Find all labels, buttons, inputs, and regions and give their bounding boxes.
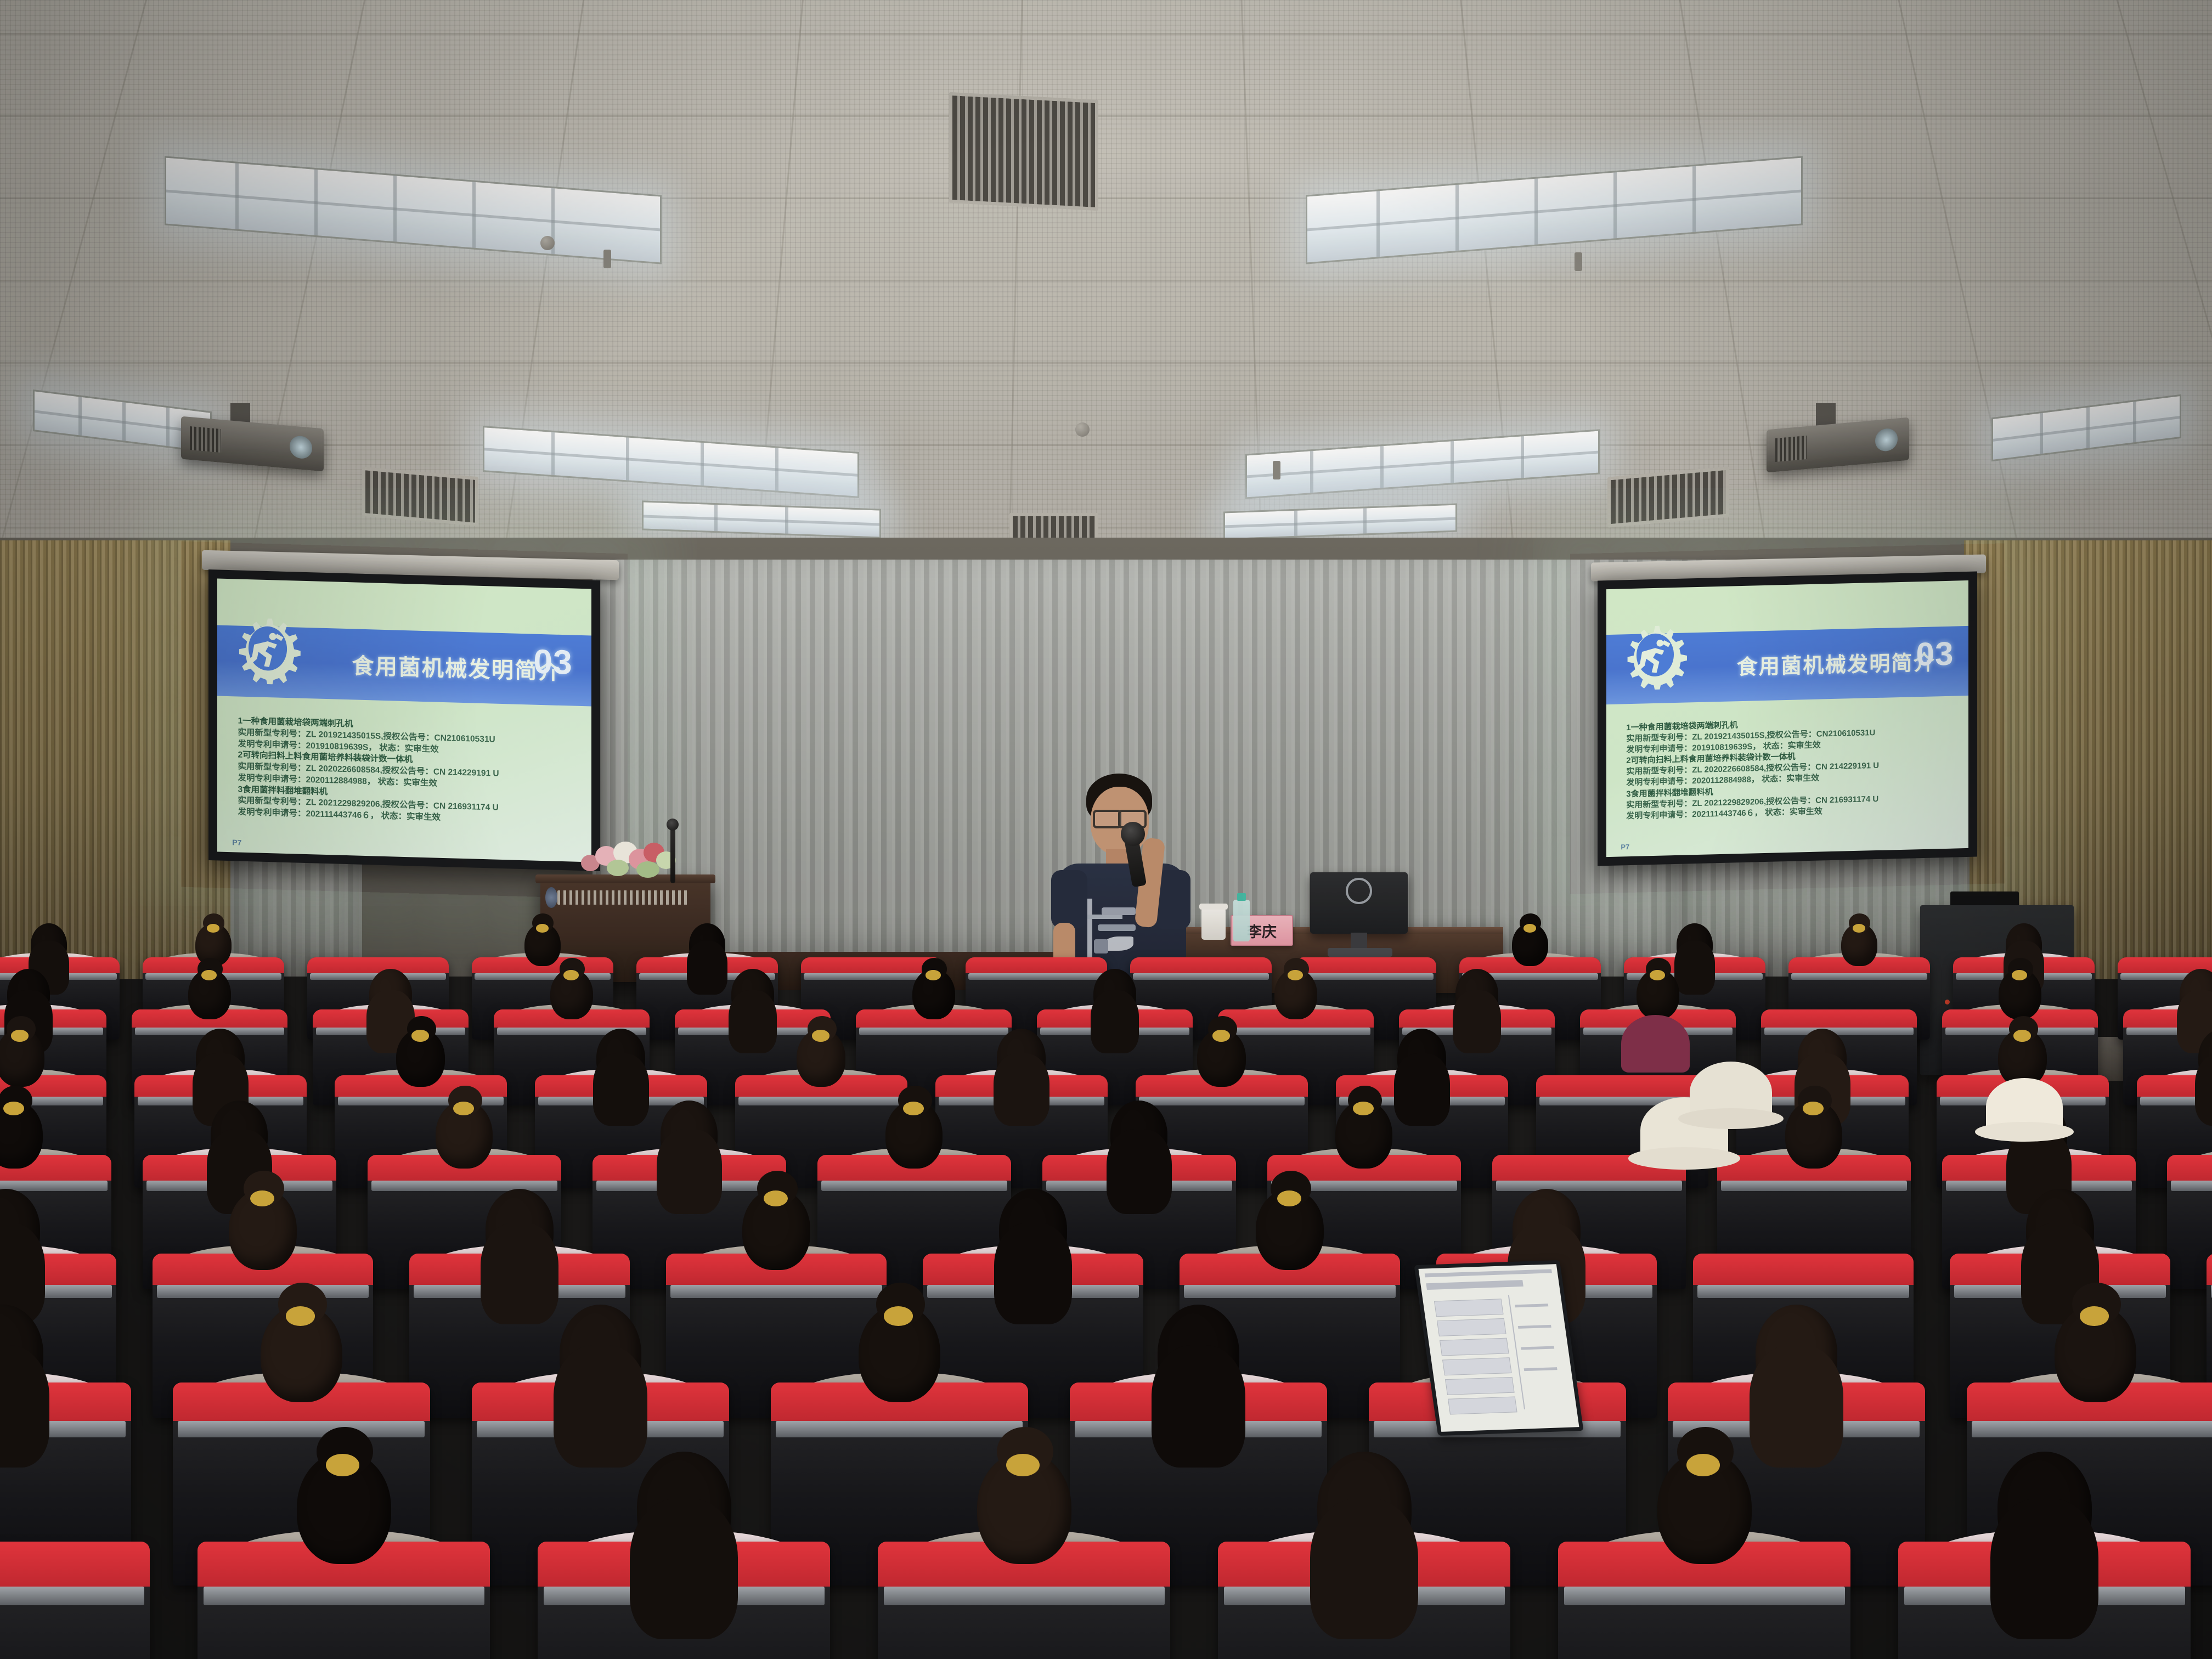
audience-member-hair-tie bbox=[286, 1306, 315, 1326]
sprinkler-head-2 bbox=[1575, 252, 1582, 271]
sprinkler-head-3 bbox=[1273, 461, 1280, 479]
audience-member-long-hair bbox=[994, 1223, 1072, 1324]
ceiling-grid-line bbox=[1898, 0, 2021, 554]
ceiling-grid-line bbox=[2117, 0, 2212, 554]
seat-chrome-trim bbox=[1564, 1587, 1845, 1605]
slide-title-left: 食用菌机械发明简介 bbox=[352, 648, 562, 686]
ceiling-grid-line bbox=[0, 362, 2212, 364]
audience-member-hair-tie bbox=[1353, 1102, 1373, 1115]
cap-brim bbox=[1975, 1122, 2073, 1142]
audience-member-long-hair bbox=[1990, 1499, 2098, 1639]
audience-member-hair-tie bbox=[411, 1030, 429, 1041]
seat-chrome-trim bbox=[1139, 1097, 1304, 1105]
cap-brim bbox=[1678, 1108, 1784, 1129]
seat-chrome-trim bbox=[178, 1421, 425, 1437]
audience-member-hair-tie bbox=[1277, 1190, 1301, 1207]
audience-member-hair-tie bbox=[207, 924, 219, 933]
ceiling-tile-lines bbox=[0, 0, 2212, 554]
seat-chrome-trim bbox=[0, 1587, 144, 1605]
slide-page-marker-left: P7 bbox=[232, 838, 241, 847]
audience-member-hair-tie bbox=[1853, 924, 1865, 933]
ceiling-grid-line bbox=[251, 0, 366, 554]
laptop-doc-block bbox=[1440, 1338, 1509, 1356]
audience-member-hair-tie bbox=[453, 1102, 473, 1115]
seat-chrome-trim bbox=[1791, 973, 1927, 980]
gear-runner-icon-left bbox=[232, 612, 303, 685]
seat-chrome-trim bbox=[157, 1285, 369, 1298]
laptop-sidebar-line bbox=[1524, 1367, 1558, 1371]
seat-chrome-trim bbox=[968, 973, 1104, 980]
gooseneck-mic-capsule bbox=[667, 819, 679, 831]
slide-page-marker-right: P7 bbox=[1621, 843, 1629, 851]
seat-headrest bbox=[307, 957, 449, 973]
slide-body-right: 1一种食用菌栽培袋两端刺孔机实用新型专利号：ZL 201921435015S,授… bbox=[1626, 714, 1957, 822]
seat-chrome-trim bbox=[1221, 1028, 1370, 1035]
laptop-screen bbox=[1419, 1264, 1579, 1432]
ceiling-panel-grid bbox=[0, 0, 2212, 554]
audience-member-hair-tie bbox=[326, 1454, 360, 1476]
slide-surface-left: 食用菌机械发明简介 03 1一种食用菌栽培袋两端刺孔机实用新型专利号：ZL 20… bbox=[217, 578, 591, 862]
seat-chrome-trim bbox=[859, 1028, 1008, 1035]
audience-member-long-hair bbox=[687, 941, 728, 995]
seat-headrest bbox=[1761, 1009, 1917, 1028]
seat-chrome-trim bbox=[1764, 1028, 1914, 1035]
audience-member-long-hair bbox=[729, 990, 777, 1053]
laptop-doc-block bbox=[1434, 1299, 1504, 1317]
audience-member-hair-tie bbox=[250, 1190, 274, 1207]
audience-member-hair-tie bbox=[884, 1306, 913, 1326]
ceiling-grid-line bbox=[0, 527, 2212, 528]
audience-member-long-hair bbox=[1152, 1345, 1245, 1468]
audience-member-long-hair bbox=[657, 1129, 722, 1214]
ceiling-grid-line bbox=[0, 0, 147, 554]
seat-headrest bbox=[1295, 957, 1436, 973]
smoke-detector-2 bbox=[1075, 422, 1090, 437]
audience-member-long-hair bbox=[1107, 1129, 1172, 1214]
audience-member-long-hair bbox=[1750, 1345, 1843, 1468]
slide-number-left: 03 bbox=[533, 642, 572, 682]
seat-chrome-trim bbox=[738, 1097, 904, 1105]
seat-chrome-trim bbox=[371, 1181, 557, 1192]
audience-member-long-hair bbox=[994, 1053, 1049, 1126]
laptop-toolbar bbox=[1425, 1269, 1552, 1277]
seat-chrome-trim bbox=[1721, 1181, 1907, 1192]
seat-headrest bbox=[1130, 957, 1272, 973]
dell-monitor bbox=[1310, 872, 1408, 934]
auditorium-seat[interactable] bbox=[2167, 1155, 2212, 1289]
seat-chrome-trim bbox=[884, 1587, 1165, 1605]
lecture-hall-photo: 食用菌机械发明简介 03 1一种食用菌栽培袋两端刺孔机实用新型专利号：ZL 20… bbox=[0, 0, 2212, 1659]
ceiling-grid-line bbox=[1008, 0, 1023, 554]
audience-member-long-hair bbox=[554, 1345, 647, 1468]
audience-member-hair-tie bbox=[1006, 1454, 1040, 1476]
audience-member-hair-tie bbox=[11, 1030, 29, 1041]
presenter-left-sleeve bbox=[1051, 870, 1087, 928]
laptop-doc-block bbox=[1442, 1357, 1512, 1375]
seat-chrome-trim bbox=[1496, 1181, 1682, 1192]
audience-member-long-hair bbox=[481, 1223, 558, 1324]
seat-chrome-trim bbox=[1697, 1285, 1909, 1298]
laptop-doc-block bbox=[1445, 1377, 1515, 1395]
hvac-vent-center bbox=[949, 92, 1098, 211]
seat-headrest bbox=[1536, 1075, 1708, 1097]
white-baseball-cap-2 bbox=[1690, 1062, 1772, 1123]
audience-member-long-hair bbox=[1310, 1499, 1418, 1639]
seat-chrome-trim bbox=[821, 1181, 1007, 1192]
laptop-sidebar-line bbox=[1518, 1325, 1551, 1329]
smoke-detector-1 bbox=[540, 236, 555, 250]
projection-screen-right[interactable]: 食用菌机械发明简介 03 1一种食用菌栽培袋两端刺孔机实用新型专利号：ZL 20… bbox=[1598, 572, 1977, 866]
laptop-sidebar-line bbox=[1515, 1304, 1548, 1307]
audience-member-hair-tie bbox=[2013, 1030, 2031, 1041]
ceiling-grid-line bbox=[0, 33, 2212, 35]
audience-member-long-hair bbox=[593, 1053, 649, 1126]
seat-chrome-trim bbox=[1133, 973, 1269, 980]
projection-screen-left[interactable]: 食用菌机械发明简介 03 1一种食用菌栽培袋两端刺孔机实用新型专利号：ZL 20… bbox=[208, 569, 600, 871]
lectern-nameplate bbox=[557, 890, 690, 905]
seat-chrome-trim bbox=[776, 1421, 1023, 1437]
audience-member-hair-tie bbox=[201, 970, 217, 980]
seat-headrest bbox=[2167, 1155, 2212, 1181]
sprinkler-head-1 bbox=[603, 250, 611, 268]
laptop-doc-block bbox=[1448, 1397, 1517, 1415]
audience-member-long-hair bbox=[1674, 941, 1716, 995]
slide-surface-right: 食用菌机械发明简介 03 1一种食用菌栽培袋两端刺孔机实用新型专利号：ZL 20… bbox=[1606, 580, 1968, 857]
seat-headrest bbox=[0, 1542, 150, 1587]
flower-arrangement bbox=[579, 834, 683, 883]
hvac-vent-right bbox=[1607, 466, 1729, 527]
audience-member-hair-tie bbox=[764, 1190, 788, 1207]
audio-device-on-rack bbox=[1950, 891, 2019, 907]
audience-member-hair-tie bbox=[2080, 1306, 2109, 1326]
gear-runner-icon-right bbox=[1621, 619, 1690, 690]
laptop-sidebar-line bbox=[1521, 1346, 1554, 1350]
audience-member-hair-tie bbox=[563, 970, 579, 980]
seat-chrome-trim bbox=[2171, 1181, 2212, 1192]
ceiling-grid-line bbox=[0, 280, 2212, 281]
seat-headrest bbox=[2207, 1254, 2212, 1285]
maroon-beanie bbox=[1621, 1015, 1690, 1073]
audience-member-hair-tie bbox=[903, 1102, 923, 1115]
gooseneck-microphone-podium[interactable] bbox=[670, 826, 675, 883]
audience-member-hair-tie bbox=[2012, 970, 2027, 980]
audience-member-long-hair bbox=[1453, 990, 1501, 1053]
seat-chrome-trim bbox=[1972, 1421, 2212, 1437]
name-placard-text: 李庆 bbox=[1247, 920, 1277, 941]
audience-member-hair-tie bbox=[1650, 970, 1665, 980]
ceiling-grid-line bbox=[0, 115, 2212, 117]
hvac-vent-left bbox=[362, 467, 478, 527]
seat-chrome-trim bbox=[0, 1181, 108, 1192]
audience-member-hair-tie bbox=[1686, 1454, 1720, 1476]
wood-panel-left bbox=[0, 540, 230, 979]
audience-member-long-hair bbox=[1091, 990, 1139, 1053]
audience-member-hair-tie bbox=[1288, 970, 1303, 980]
slide-number-right: 03 bbox=[1916, 634, 1954, 673]
seat-chrome-trim bbox=[204, 1587, 484, 1605]
audience-member-hair-tie bbox=[1523, 924, 1536, 933]
seat-chrome-trim bbox=[1297, 973, 1434, 980]
dell-logo-icon bbox=[1346, 878, 1372, 904]
slide-title-right: 食用菌机械发明简介 bbox=[1737, 646, 1936, 681]
auditorium-seat[interactable] bbox=[0, 1542, 150, 1659]
audience-member-hair-tie bbox=[536, 924, 549, 933]
seat-chrome-trim bbox=[1184, 1285, 1396, 1298]
audience-laptop[interactable] bbox=[1414, 1260, 1584, 1436]
handheld-mic-capsule bbox=[1121, 822, 1145, 846]
audience-member-long-hair bbox=[630, 1499, 738, 1639]
seat-chrome-trim bbox=[670, 1285, 882, 1298]
audience-member-hair-tie bbox=[1803, 1102, 1823, 1115]
institution-seal-icon bbox=[545, 887, 557, 908]
slide-body-left: 1一种食用菌栽培袋两端刺孔机实用新型专利号：ZL 201921435015S,授… bbox=[238, 716, 580, 828]
laptop-doc-block bbox=[1437, 1318, 1506, 1336]
cream-visor bbox=[1986, 1078, 2063, 1136]
seat-chrome-trim bbox=[475, 973, 611, 980]
audience-member-long-hair bbox=[1394, 1053, 1450, 1126]
audience-member-hair-tie bbox=[926, 970, 941, 980]
audience-member-hair-tie bbox=[3, 1102, 24, 1115]
audience-member-hair-tie bbox=[812, 1030, 830, 1041]
cap-brim bbox=[1628, 1147, 1741, 1170]
water-bottle-table bbox=[1233, 900, 1250, 941]
audience-member-hair-tie bbox=[1212, 1030, 1230, 1041]
seat-headrest bbox=[1693, 1254, 1914, 1285]
seat-headrest bbox=[966, 957, 1107, 973]
presenter-glasses bbox=[1093, 810, 1121, 828]
laptop-ribbon bbox=[1426, 1280, 1523, 1290]
monitor-base bbox=[1328, 948, 1392, 957]
